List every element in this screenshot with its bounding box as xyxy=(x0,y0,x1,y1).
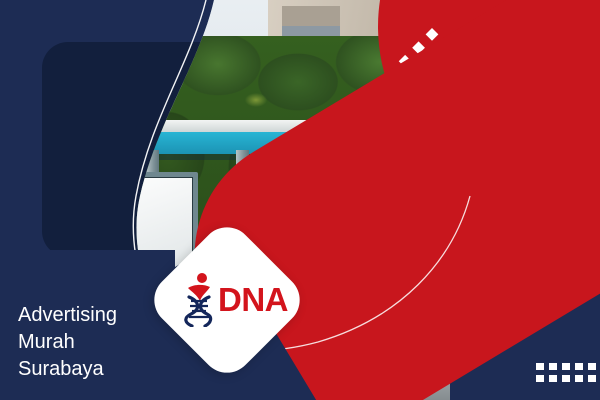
headline: Advertising Murah Surabaya xyxy=(18,302,117,383)
advertising-banner: DNA Advertising Murah Surabaya xyxy=(0,0,600,400)
logo-wordmark: DNA xyxy=(218,283,288,316)
headline-line-2: Murah xyxy=(18,329,117,356)
logo-lockup: DNA xyxy=(180,268,310,330)
corner-dot-pattern xyxy=(536,363,600,384)
headline-line-3: Surabaya xyxy=(18,356,117,383)
dna-helix-person-icon xyxy=(180,271,214,327)
headline-line-1: Advertising xyxy=(18,302,117,329)
